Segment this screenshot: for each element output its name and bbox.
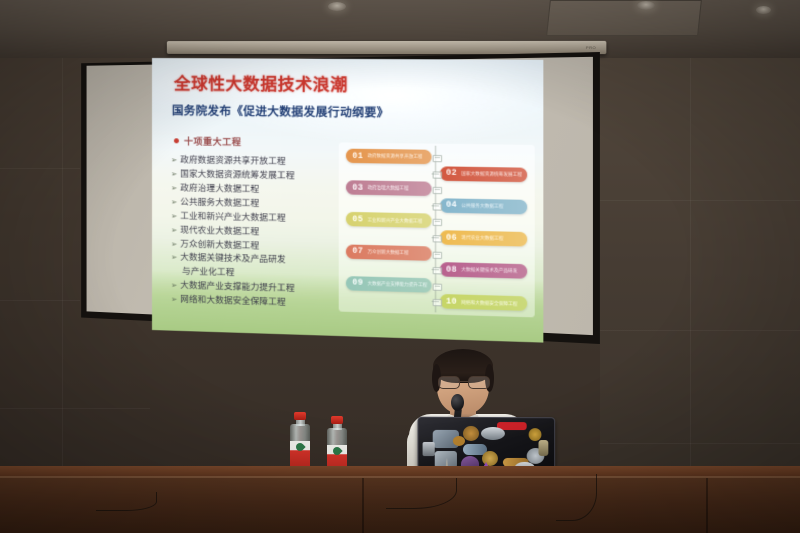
desk-seam xyxy=(706,478,708,533)
ceiling-panel xyxy=(546,0,702,36)
timeline-connector xyxy=(434,285,439,286)
water-bottle xyxy=(289,412,311,474)
projector-screen-housing: PRO xyxy=(167,41,607,54)
timeline-connector xyxy=(434,189,439,190)
wall-seam xyxy=(600,200,800,201)
timeline-step-caption: 大数据产业支撑能力提升工程 xyxy=(367,281,427,288)
timeline-step-number: 03 xyxy=(346,183,367,193)
timeline-connector xyxy=(432,237,439,238)
list-arrow-icon: ➢ xyxy=(171,209,177,223)
timeline-connector xyxy=(432,269,439,270)
timeline-step-02: 02国家大数据资源统筹发展工程 xyxy=(440,166,527,182)
sticker xyxy=(463,426,479,441)
timeline-step-caption: 网络和大数据安全保障工程 xyxy=(461,299,517,306)
glasses-icon xyxy=(438,376,488,388)
timeline-step-caption: 万众创新大数据工程 xyxy=(367,249,408,256)
list-arrow-icon: ➢ xyxy=(171,153,177,167)
list-arrow-icon: ➢ xyxy=(171,223,177,237)
list-arrow-icon: ➢ xyxy=(171,181,177,195)
slide-list-item-label: 公共服务大数据工程 xyxy=(180,195,259,211)
timeline-step-caption: 工业和新兴产业大数据工程 xyxy=(367,217,422,224)
wall-seam xyxy=(0,408,150,409)
bottle-cap xyxy=(294,412,306,420)
timeline-step-number: 06 xyxy=(440,233,462,243)
timeline-step-01: 01政府数据资源共享开放工程 xyxy=(346,149,432,165)
timeline-step-09: 09大数据产业支撑能力提升工程 xyxy=(346,276,432,293)
timeline-step-10: 10网络和大数据安全保障工程 xyxy=(440,294,527,311)
desk-seam xyxy=(362,478,364,533)
timeline-step-caption: 政府治理大数据工程 xyxy=(367,185,408,191)
sticker xyxy=(529,428,542,441)
timeline-step-06: 06现代农业大数据工程 xyxy=(440,230,527,246)
bottle-neck xyxy=(296,419,305,426)
glasses-lens xyxy=(468,376,490,389)
timeline-step-caption: 现代农业大数据工程 xyxy=(461,235,503,242)
list-arrow-icon: ➢ xyxy=(171,279,177,293)
downlight-icon xyxy=(328,2,346,11)
timeline-step-number: 01 xyxy=(346,151,367,160)
sticker-balloon xyxy=(505,434,525,456)
cable xyxy=(96,492,157,511)
timeline-connector xyxy=(432,205,439,206)
timeline-step-caption: 政府数据资源共享开放工程 xyxy=(367,153,422,159)
slide-subtitle: 国务院发布《促进大数据发展行动纲要》 xyxy=(172,102,389,120)
downlight-icon xyxy=(637,1,655,10)
wall-seam xyxy=(690,58,691,478)
microphone-icon xyxy=(451,394,464,411)
slide-list-item-label: 与产业化工程 xyxy=(182,265,235,280)
timeline-connector xyxy=(432,301,439,302)
timeline-step-08: 08大数据关键技术及产品研发 xyxy=(440,262,527,279)
glasses-bridge xyxy=(458,381,468,382)
list-arrow-icon: ➢ xyxy=(171,251,177,265)
slide-bullet-list: ➢政府数据资源共享开放工程➢国家大数据资源统筹发展工程➢政府治理大数据工程➢公共… xyxy=(171,153,346,312)
slide-section-label: 十项重大工程 xyxy=(184,134,241,148)
timeline-connector xyxy=(434,157,439,158)
list-arrow-icon: ➢ xyxy=(171,237,177,251)
list-arrow-icon: ➢ xyxy=(171,293,177,307)
wall-seam xyxy=(0,300,80,301)
wall-seam xyxy=(600,443,800,444)
timeline-step-number: 09 xyxy=(346,278,367,288)
timeline-step-caption: 大数据关键技术及产品研发 xyxy=(461,267,517,274)
right-wall xyxy=(600,58,800,478)
timeline-step-caption: 国家大数据资源统筹发展工程 xyxy=(461,171,522,178)
housing-brand-label: PRO xyxy=(586,45,596,50)
sticker xyxy=(482,451,498,466)
timeline-step-03: 03政府治理大数据工程 xyxy=(346,180,432,196)
timeline-step-05: 05工业和新兴产业大数据工程 xyxy=(346,212,432,228)
timeline-step-number: 08 xyxy=(440,265,462,275)
lecture-hall-photo: PRO 全球性大数据技术浪潮 国务院发布《促进大数据发展行动纲要》 十项重大工程… xyxy=(0,0,800,533)
wall-seam xyxy=(62,58,63,478)
glasses-lens xyxy=(438,376,460,389)
bottle-neck xyxy=(333,423,342,430)
timeline-step-04: 04公共服务大数据工程 xyxy=(440,198,527,214)
wall-seam xyxy=(0,168,80,169)
timeline-step-number: 07 xyxy=(346,247,367,257)
slide-title: 全球性大数据技术浪潮 xyxy=(174,70,348,95)
bullet-dot-icon xyxy=(174,138,179,143)
list-arrow-icon: ➢ xyxy=(171,167,177,181)
list-arrow-icon: ➢ xyxy=(171,195,177,209)
sticker xyxy=(481,427,505,440)
sticker xyxy=(453,436,465,446)
sticker xyxy=(423,442,435,456)
projected-slide: 全球性大数据技术浪潮 国务院发布《促进大数据发展行动纲要》 十项重大工程 ➢政府… xyxy=(152,58,543,343)
timeline-connector xyxy=(434,221,439,222)
slide-list-item-label: 政府治理大数据工程 xyxy=(180,181,259,196)
timeline-connector xyxy=(434,253,439,254)
downlight-icon xyxy=(756,6,771,14)
sticker xyxy=(538,440,548,456)
timeline-step-number: 05 xyxy=(346,215,367,225)
timeline-step-number: 04 xyxy=(440,201,462,211)
bottle-cap xyxy=(331,416,343,424)
slide-section-heading: 十项重大工程 xyxy=(174,134,241,148)
timeline-step-number: 10 xyxy=(440,297,462,307)
timeline-step-07: 07万众创新大数据工程 xyxy=(346,244,432,260)
wall-seam xyxy=(600,330,800,331)
timeline-connector xyxy=(432,173,439,174)
timeline-step-number: 02 xyxy=(440,169,462,179)
timeline-step-caption: 公共服务大数据工程 xyxy=(461,203,503,209)
slide-timeline-diagram: 01政府数据资源共享开放工程02国家大数据资源统筹发展工程03政府治理大数据工程… xyxy=(339,142,535,317)
